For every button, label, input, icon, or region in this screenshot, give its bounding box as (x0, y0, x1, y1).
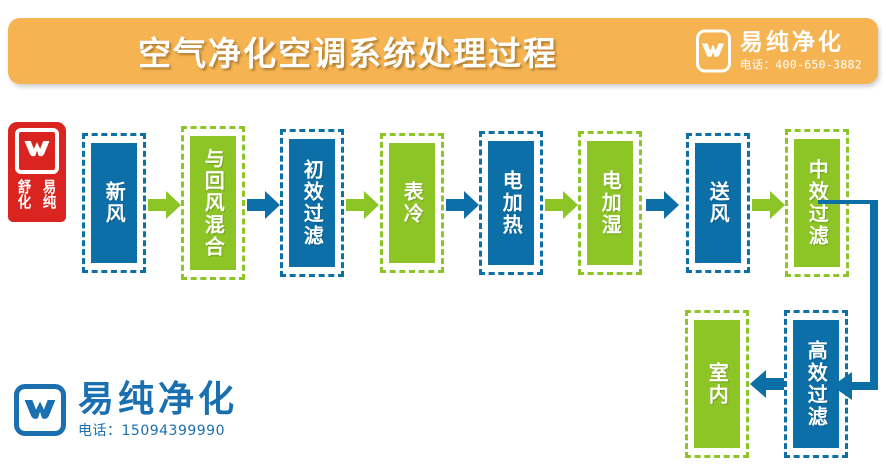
company-w-mark-icon (24, 141, 50, 162)
flow-node-label: 送风 (707, 181, 729, 225)
flow-arrow-5 (545, 191, 578, 219)
node-fill: 电加热 (488, 141, 534, 265)
flow-node-chuxiaoguolv[interactable]: 初效过滤 (280, 129, 344, 277)
node-fill: 室内 (694, 320, 740, 448)
header-logo-text: 易纯净化 电话：400-650-3882 (740, 31, 862, 71)
node-fill: 送风 (695, 143, 741, 263)
flow-node-biaoleng[interactable]: 表冷 (380, 133, 444, 273)
flow-node-dianjiashi[interactable]: 电加湿 (578, 131, 642, 275)
red-seal-stamp-icon: 舒 易 化 纯 (8, 122, 66, 222)
flow-node-label: 新风 (103, 181, 125, 225)
footer-logo-text: 易纯净化 电话：15094399990 (78, 382, 238, 438)
flow-node-label: 初效过滤 (301, 159, 323, 247)
flow-node-shinei[interactable]: 室内 (685, 310, 749, 458)
flow-node-label: 室内 (706, 362, 728, 406)
seal-mark-frame (15, 128, 59, 174)
node-fill: 电加湿 (587, 141, 633, 265)
flow-node-dianjiare[interactable]: 电加热 (479, 131, 543, 275)
flow-arrow-2 (247, 191, 280, 219)
flow-node-label: 表冷 (401, 181, 423, 225)
company-w-mark-icon (696, 30, 731, 73)
flow-arrow-7 (752, 191, 785, 219)
seal-char: 纯 (38, 195, 61, 210)
footer-logo: 易纯净化 电话：15094399990 (14, 382, 238, 438)
header-logo: 易纯净化 电话：400-650-3882 (696, 30, 862, 73)
flow-connector-line (818, 200, 886, 400)
node-fill: 与回风混合 (190, 136, 236, 270)
node-fill: 新风 (91, 143, 137, 263)
flow-node-label: 电加湿 (599, 170, 621, 236)
flow-node-songfeng[interactable]: 送风 (686, 133, 750, 273)
flow-node-label: 电加热 (500, 170, 522, 236)
header-banner: 空气净化空调系统处理过程 易纯净化 电话：400-650-3882 (8, 18, 878, 84)
node-fill: 初效过滤 (289, 139, 335, 267)
seal-char: 化 (13, 195, 36, 210)
flow-arrow-3 (346, 191, 379, 219)
page-title: 空气净化空调系统处理过程 (138, 27, 558, 75)
flow-node-label: 与回风混合 (202, 148, 224, 258)
flow-arrow-4 (446, 191, 479, 219)
flow-arrow-8 (750, 370, 784, 398)
header-logo-phone: 电话：400-650-3882 (740, 59, 862, 71)
flow-arrow-1 (148, 191, 181, 219)
company-w-mark-icon (14, 384, 66, 436)
footer-logo-name: 易纯净化 (78, 382, 238, 418)
node-fill: 表冷 (389, 143, 435, 263)
flow-node-xinfeng[interactable]: 新风 (82, 133, 146, 273)
header-logo-name: 易纯净化 (740, 31, 862, 54)
seal-characters: 舒 易 化 纯 (12, 172, 62, 218)
footer-logo-phone: 电话：15094399990 (78, 424, 238, 438)
flow-arrow-6 (646, 191, 679, 219)
flow-node-yuhuifenghunhe[interactable]: 与回风混合 (181, 126, 245, 280)
